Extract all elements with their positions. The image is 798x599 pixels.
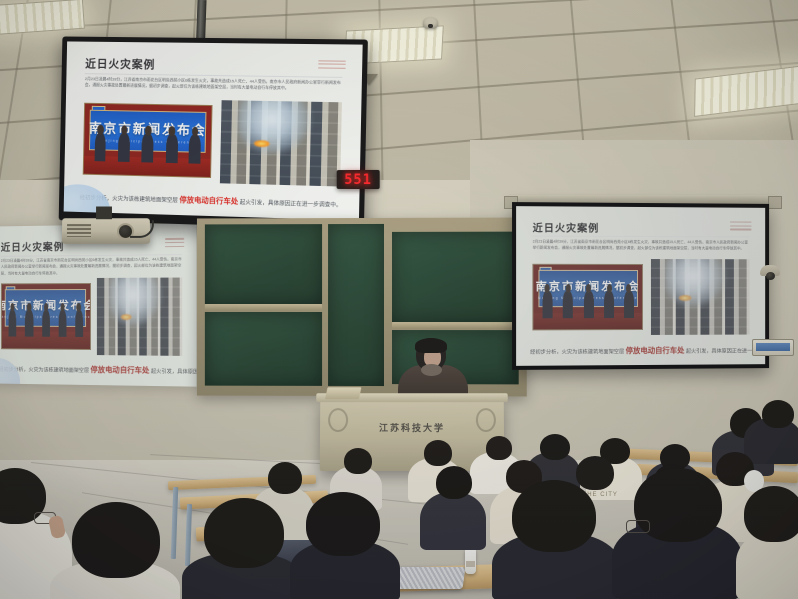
student-head (486, 436, 512, 460)
slide-body-text: 2月23日凌晨4时39分，江苏省南京市雨花台区明尚西苑小区6栋发生火灾，事故共造… (533, 238, 750, 251)
slide-title: 近日火灾案例 (1, 238, 65, 254)
blackboard-panel-center (328, 224, 384, 386)
slide-footer: 经初步分析，火灾为该栋建筑地面架空层 停放电动自行车处 起火引发，具体原因正在进… (80, 191, 346, 210)
footer-suffix: 起火引发，具体原因正在进一步调查中。 (240, 199, 342, 208)
slide-photo-press-conference: 南京市新闻发布会 Nanjing Municipal Press Confere… (533, 264, 644, 331)
flame (121, 314, 132, 320)
wall-projection-left: 近日火灾案例 2月23日凌晨4时39分，江苏省南京市雨花台区明尚西苑小区6栋发生… (0, 223, 197, 386)
slide-footer: 经初步分析，火灾为该栋建筑地面架空层 停放电动自行车处 起火引发，具体原因正在进… (530, 344, 754, 356)
hamburger-menu-icon (730, 222, 752, 233)
smoke-plume (109, 277, 162, 327)
projection-screen-surface: 近日火灾案例 2月23日凌晨4时39分，江苏省南京市雨花台区明尚西苑小区6栋发生… (516, 206, 765, 366)
footer-suffix: 起火引发，具体原因正在进一步调查中。 (151, 369, 197, 376)
slide-body-text: 2月23日凌晨4时39分，江苏省南京市雨花台区明尚西苑小区6栋发生火灾，事故共造… (1, 256, 183, 276)
projection-screen-right: 近日火灾案例 2月23日凌晨4时39分，江苏省南京市雨花台区明尚西苑小区6栋发生… (512, 202, 769, 370)
student-head (744, 486, 798, 542)
footer-highlight: 停放电动自行车处 (179, 195, 238, 206)
smoke-plume (665, 259, 726, 307)
student-head (72, 502, 160, 578)
slide-photo-fire-scene (220, 100, 342, 186)
student-head (306, 492, 380, 556)
slide-projection-right: 近日火灾案例 2月23日凌晨4时39分，江苏省南京市雨花台区明尚西苑小区6栋发生… (516, 206, 765, 366)
smoke-plume (237, 100, 313, 155)
slide-title: 近日火灾案例 (533, 219, 600, 234)
student-head (762, 400, 794, 428)
student-head (204, 498, 284, 568)
lectern-emblem-right (476, 408, 496, 432)
decorative-blob (0, 358, 20, 386)
bottle-label (466, 561, 475, 567)
wall-mounted-tv[interactable]: 近日火灾案例 2月23日凌晨4时39分，江苏省南京市雨花台区明尚西苑小区6栋发生… (59, 36, 368, 229)
classroom-photo-scene: 近日火灾案例 2月23日凌晨4时39分，江苏省南京市雨花台区明尚西苑小区6栋发生… (0, 0, 798, 599)
ceiling-projector (62, 218, 150, 244)
blackboard-panel-left-bottom (205, 312, 322, 386)
student-head (436, 466, 472, 499)
slide-photo-fire-scene (97, 277, 182, 355)
slide-title: 近日火灾案例 (85, 55, 155, 72)
smoke-detector (423, 17, 438, 29)
slide-photo-press-conference: 南京市新闻发布会 Nanjing Municipal Press Confere… (1, 283, 91, 350)
presenter-collar (421, 364, 442, 376)
chalk-ledge (392, 322, 519, 328)
screen-bracket-right (768, 196, 782, 209)
student-head (512, 480, 596, 552)
student-head (540, 434, 570, 460)
slide-footer: 经初步分析，火灾为该栋建筑地面架空层 停放电动自行车处 起火引发，具体原因正在进… (0, 363, 187, 376)
lectern-emblem-left (328, 408, 348, 432)
university-logo-text: 江苏科技大学 (379, 421, 445, 434)
tv-screen: 近日火灾案例 2月23日凌晨4时39分，江苏省南京市雨花台区明尚西苑小区6栋发生… (64, 41, 363, 220)
yogurt-bottle (465, 548, 476, 574)
student-body (420, 492, 486, 550)
slide-projection-left: 近日火灾案例 2月23日凌晨4时39分，江苏省南京市雨花台区明尚西苑小区6栋发生… (0, 223, 197, 386)
flame (678, 295, 691, 301)
slide-tv: 近日火灾案例 2月23日凌晨4时39分，江苏省南京市雨花台区明尚西苑小区6栋发生… (64, 41, 363, 220)
blackboard-panel-right-top (392, 232, 519, 322)
blackboard (197, 218, 527, 397)
slide-body-text: 2月23日凌晨4时39分，江苏省南京市雨花台区明尚西苑小区6栋发生火灾，事故共造… (85, 76, 342, 94)
chalk-ledge (205, 304, 322, 310)
lectern-papers (325, 387, 361, 399)
hamburger-menu-icon (318, 60, 346, 71)
footer-prefix: 经初步分析，火灾为该栋建筑地面架空层 (530, 349, 624, 356)
footer-highlight: 停放电动自行车处 (626, 345, 685, 354)
security-camera (760, 265, 780, 281)
led-clock: 551 (337, 170, 380, 189)
led-clock-value: 551 (344, 171, 372, 187)
flame (254, 140, 270, 147)
slide-photo-fire-scene (651, 259, 750, 335)
student-head (424, 440, 452, 466)
projector-vent (67, 224, 91, 237)
student-head (576, 456, 614, 490)
footer-highlight: 停放电动自行车处 (90, 365, 149, 375)
eyeglasses (626, 520, 650, 533)
blackboard-panel-left-top (205, 224, 322, 304)
hamburger-menu-icon (165, 238, 184, 249)
panel-display (756, 343, 790, 351)
projector-mount (96, 207, 112, 220)
slide-photo-press-conference: 南京市新闻发布会 Nanjing Municipal Press Confere… (83, 103, 213, 178)
presenter-hair (415, 338, 447, 353)
camera-lens (766, 272, 775, 280)
student-head (344, 448, 372, 474)
wall-control-panel[interactable] (752, 339, 794, 356)
foil-food-tray (394, 567, 465, 589)
student-head (268, 462, 302, 494)
